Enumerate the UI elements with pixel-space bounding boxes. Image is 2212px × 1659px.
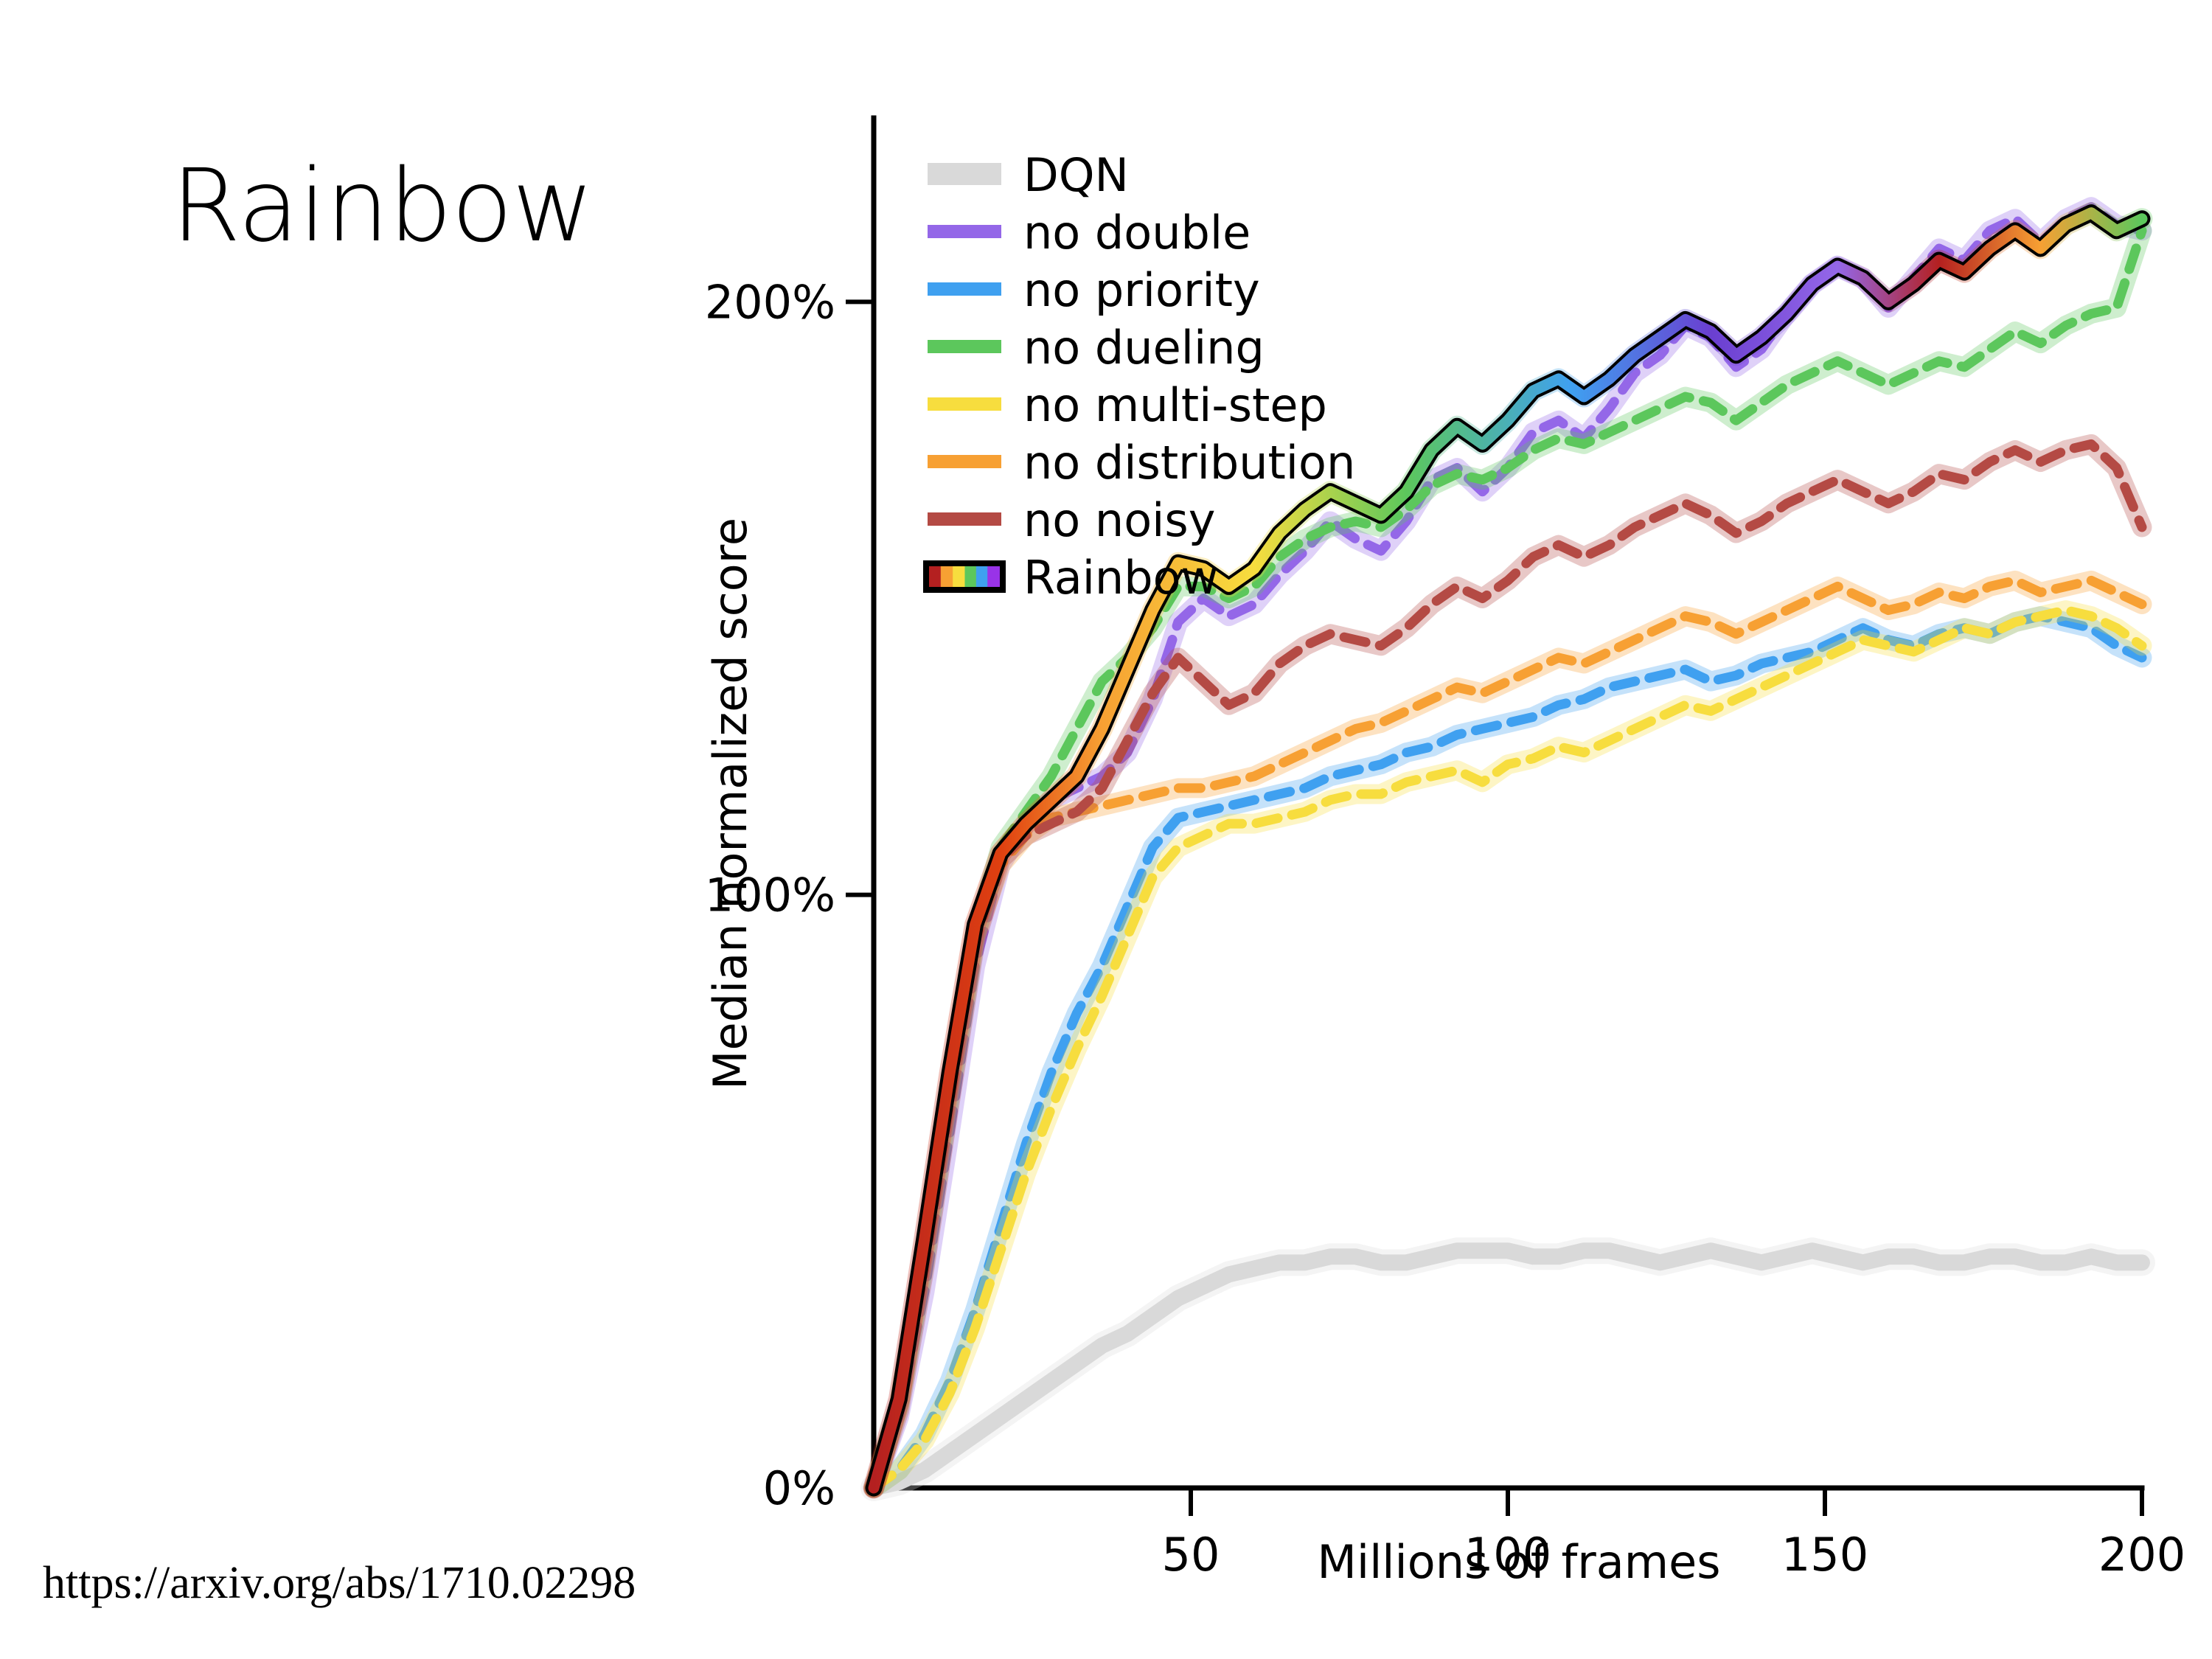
legend-item-no-priority[interactable]: no priority (928, 263, 1260, 317)
legend-label: no multi-step (1023, 378, 1327, 432)
x-axis-title: Millions of frames (1317, 1535, 1720, 1589)
legend-label: no double (1023, 206, 1251, 260)
legend-item-no-dueling[interactable]: no dueling (928, 321, 1265, 375)
x-tick-label: 150 (1781, 1528, 1868, 1582)
legend-item-no-double[interactable]: no double (928, 206, 1251, 260)
legend-label: no priority (1023, 263, 1260, 317)
series-path (874, 1251, 2142, 1488)
x-tick-label: 200 (2098, 1528, 2185, 1582)
legend-label: no distribution (1023, 436, 1355, 490)
legend-item-Rainbow[interactable]: Rainbow (923, 551, 1218, 605)
legend-label: Rainbow (1023, 551, 1218, 605)
legend-label: no dueling (1023, 321, 1265, 375)
legend-label: DQN (1023, 148, 1129, 202)
legend-item-no-multi-step[interactable]: no multi-step (928, 378, 1327, 432)
rainbow-performance-chart: 0%100%200% 50100150200 Median normalized… (0, 0, 2212, 1659)
series-DQN (874, 1251, 2142, 1488)
y-axis-title: Median normalized score (703, 518, 757, 1090)
legend-item-no-noisy[interactable]: no noisy (928, 493, 1215, 547)
legend-item-DQN[interactable]: DQN (928, 148, 1129, 202)
legend-item-no-distribution[interactable]: no distribution (928, 436, 1355, 490)
x-tick-label: 50 (1162, 1528, 1220, 1582)
y-tick-label: 200% (705, 275, 835, 329)
legend-swatch-rainbow (929, 566, 1000, 587)
legend-label: no noisy (1023, 493, 1215, 547)
y-tick-label: 0% (763, 1461, 835, 1515)
